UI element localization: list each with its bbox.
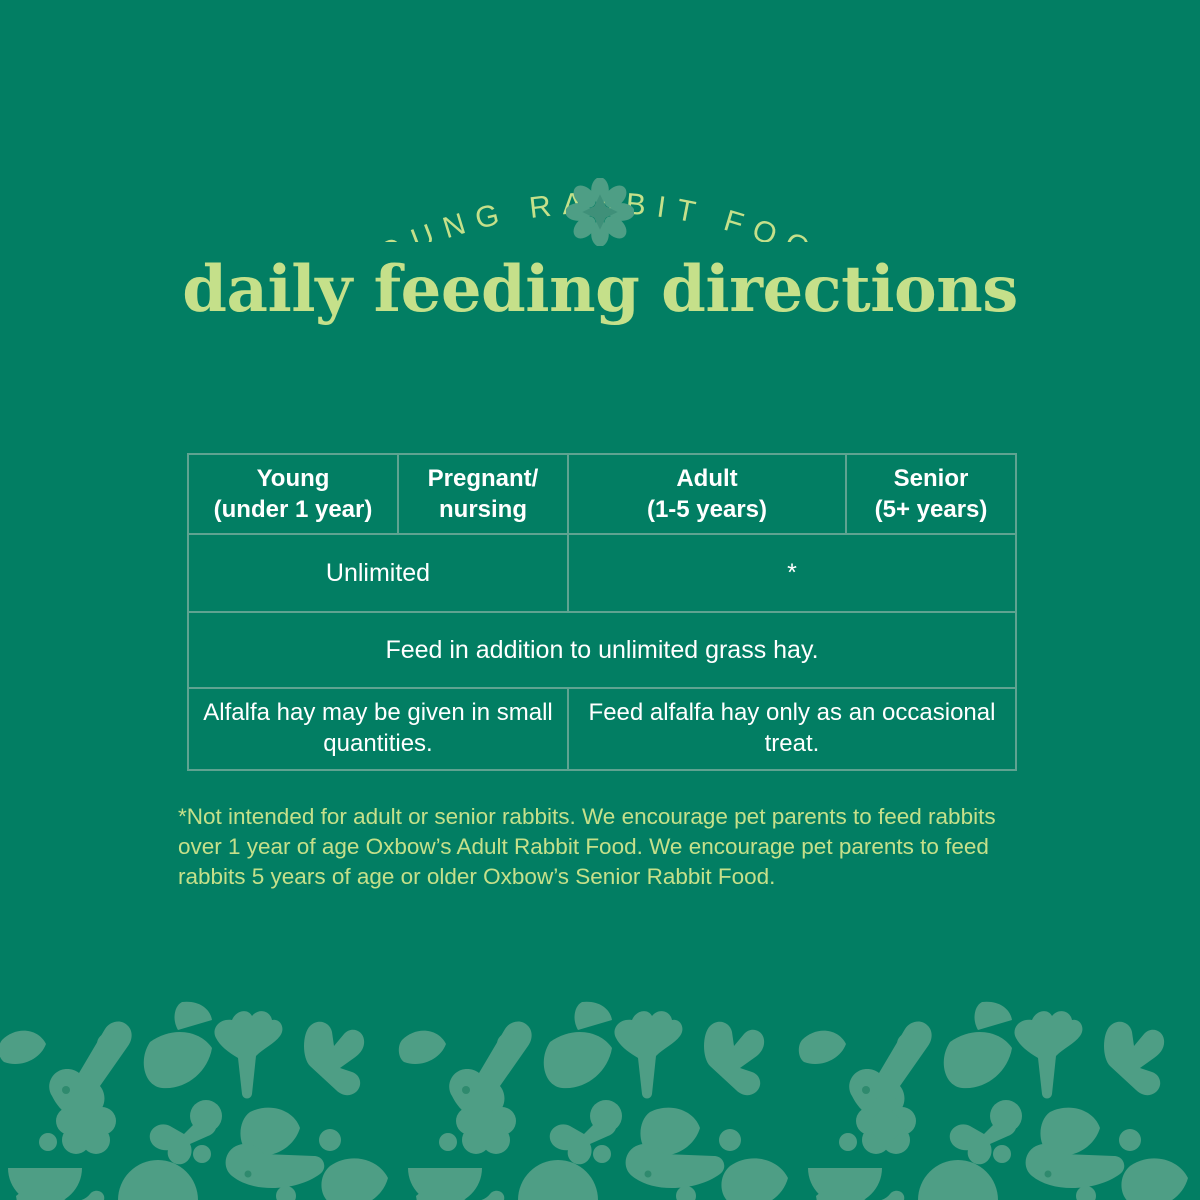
pattern-tiles <box>0 1002 1188 1200</box>
header-pregnant-line1: Pregnant/ <box>405 463 561 494</box>
cell-amount-young-pregnant: Unlimited <box>188 534 568 612</box>
feeding-directions-table: Young (under 1 year) Pregnant/ nursing A… <box>187 453 1017 771</box>
table-row-amount: Unlimited * <box>188 534 1016 612</box>
page-title: daily feeding directions <box>0 258 1200 322</box>
cell-amount-adult-senior: * <box>568 534 1016 612</box>
feeding-directions-page: YOUNG RABBIT FOOD daily feedin <box>0 0 1200 1200</box>
header-senior-line2: (5+ years) <box>853 494 1009 525</box>
rosette-icon <box>566 178 634 246</box>
table-header-senior: Senior (5+ years) <box>846 454 1016 534</box>
pattern-band-svg <box>0 1000 1200 1200</box>
cell-grass-hay-note: Feed in addition to unlimited grass hay. <box>188 612 1016 688</box>
cell-alfalfa-right: Feed alfalfa hay only as an occasional t… <box>568 688 1016 770</box>
table-row-note: Feed in addition to unlimited grass hay. <box>188 612 1016 688</box>
footnote-text: *Not intended for adult or senior rabbit… <box>178 802 1026 892</box>
table-header-adult: Adult (1-5 years) <box>568 454 846 534</box>
header-adult-line2: (1-5 years) <box>575 494 839 525</box>
table-header-pregnant: Pregnant/ nursing <box>398 454 568 534</box>
rosette-flower-emblem <box>566 178 634 246</box>
header-senior-line1: Senior <box>853 463 1009 494</box>
header-pregnant-line2: nursing <box>405 494 561 525</box>
table-row-alfalfa: Alfalfa hay may be given in small quanti… <box>188 688 1016 770</box>
table-header-young: Young (under 1 year) <box>188 454 398 534</box>
header-adult-line1: Adult <box>575 463 839 494</box>
header-young-line1: Young <box>195 463 391 494</box>
table-header-row: Young (under 1 year) Pregnant/ nursing A… <box>188 454 1016 534</box>
decorative-pattern-band <box>0 1000 1200 1200</box>
cell-alfalfa-left: Alfalfa hay may be given in small quanti… <box>188 688 568 770</box>
header-young-line2: (under 1 year) <box>195 494 391 525</box>
